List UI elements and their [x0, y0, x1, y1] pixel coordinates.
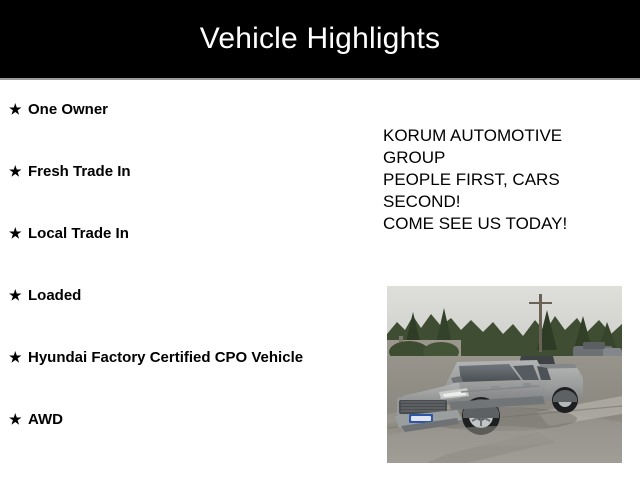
right-column: KORUM AUTOMOTIVE GROUP PEOPLE FIRST, CAR…: [383, 80, 633, 480]
page-body: ★ One Owner ★ Fresh Trade In ★ Local Tra…: [0, 80, 640, 480]
list-item: ★ Local Trade In: [0, 204, 348, 266]
star-bullet-icon: ★: [9, 412, 22, 426]
vehicle-photo-image: [387, 286, 622, 463]
list-item: ★ Hyundai Factory Certified CPO Vehicle: [0, 328, 348, 390]
highlight-label: AWD: [28, 390, 308, 430]
list-item: ★ One Owner: [0, 80, 348, 142]
star-bullet-icon: ★: [9, 350, 22, 364]
highlight-label: Local Trade In: [28, 204, 308, 244]
star-bullet-icon: ★: [9, 226, 22, 240]
vehicle-highlights-list: ★ One Owner ★ Fresh Trade In ★ Local Tra…: [0, 80, 348, 452]
highlight-label: One Owner: [28, 80, 308, 120]
highlight-label: Fresh Trade In: [28, 142, 308, 182]
page-title: Vehicle Highlights: [200, 24, 440, 54]
star-bullet-icon: ★: [9, 164, 22, 178]
highlight-label: Loaded: [28, 266, 308, 306]
highlight-label: Hyundai Factory Certified CPO Vehicle: [28, 328, 308, 368]
list-item: ★ AWD: [0, 390, 348, 452]
star-bullet-icon: ★: [9, 288, 22, 302]
star-bullet-icon: ★: [9, 102, 22, 116]
list-item: ★ Loaded: [0, 266, 348, 328]
header-banner: Vehicle Highlights: [0, 0, 640, 78]
list-item: ★ Fresh Trade In: [0, 142, 348, 204]
vehicle-photo: [387, 286, 622, 463]
dealer-message: KORUM AUTOMOTIVE GROUP PEOPLE FIRST, CAR…: [383, 125, 601, 235]
